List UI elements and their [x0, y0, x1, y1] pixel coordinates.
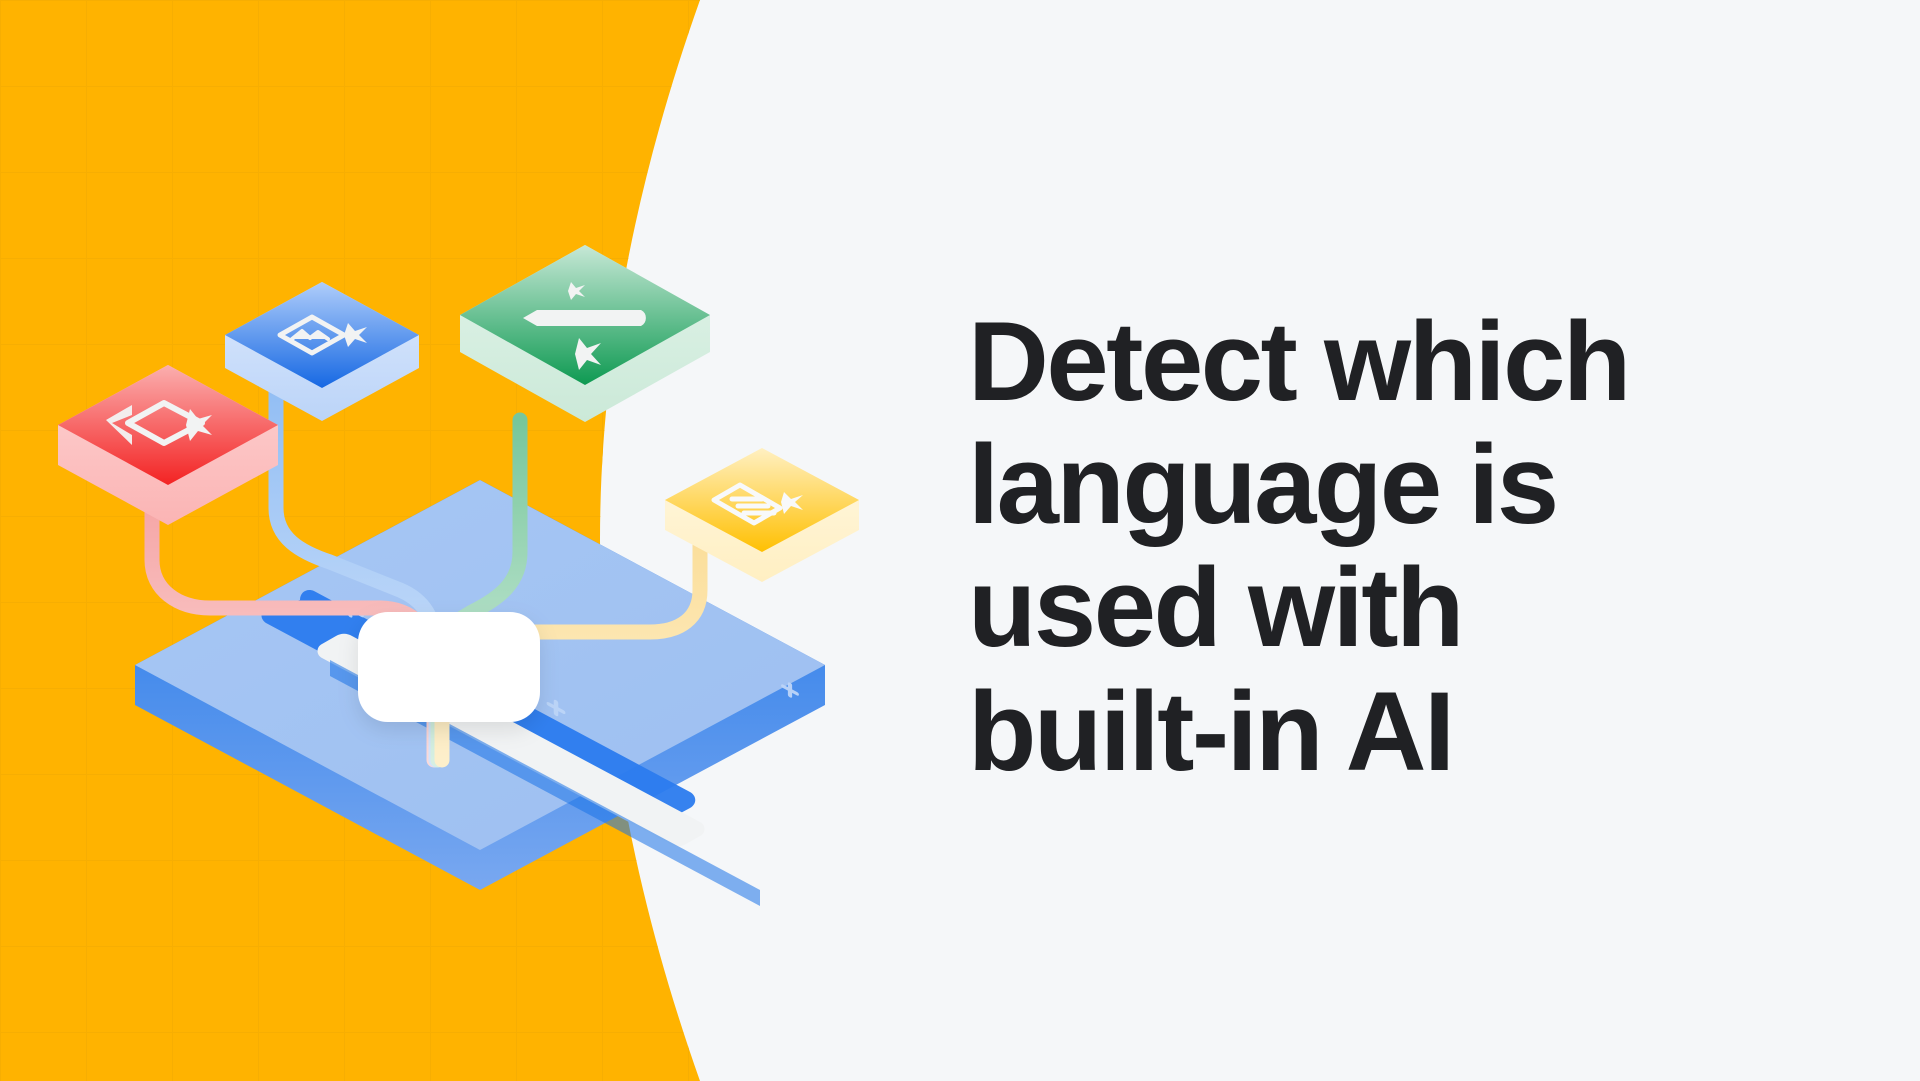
output-result-card[interactable] — [358, 612, 540, 722]
card-writer[interactable] — [460, 245, 710, 422]
card-translator[interactable] — [58, 365, 278, 525]
card-image[interactable] — [225, 282, 419, 421]
page-title: Detect which language is used with built… — [968, 300, 1828, 793]
slide-canvas: Detect which language is used with built… — [0, 0, 1920, 1081]
headline-block: Detect which language is used with built… — [968, 300, 1828, 793]
built-in-ai-illustration — [0, 120, 900, 900]
